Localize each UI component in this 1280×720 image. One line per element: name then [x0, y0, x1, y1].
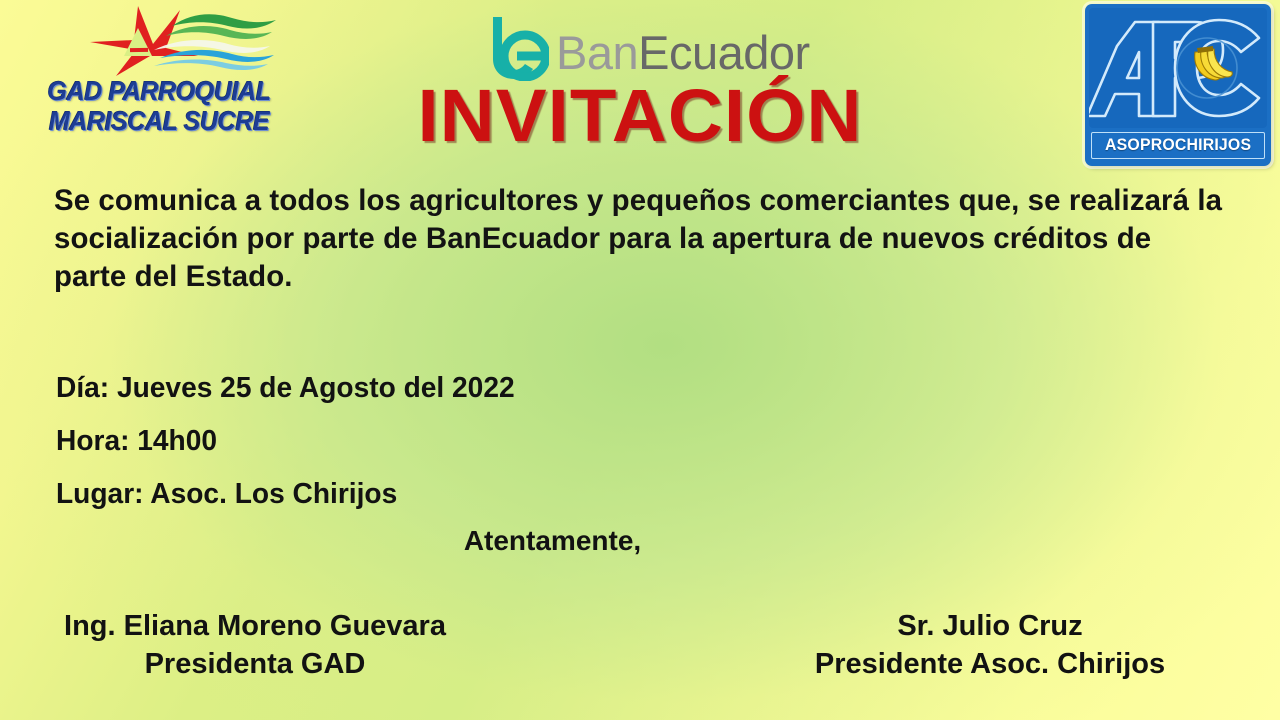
- star-swoosh-emblem: [80, 4, 280, 78]
- signature-block: Ing. Eliana Moreno Guevara Presidenta GA…: [0, 607, 1280, 683]
- event-time: Hora: 14h00: [56, 415, 515, 468]
- banecuador-word-ban: Ban: [556, 26, 638, 79]
- banecuador-wordmark: BanEcuador: [556, 29, 810, 76]
- banecuador-be-icon: [487, 15, 549, 81]
- signature-left: Ing. Eliana Moreno Guevara Presidenta GA…: [0, 607, 640, 683]
- body-paragraph: Se comunica a todos los agricultores y p…: [54, 182, 1230, 296]
- signature-left-name: Ing. Eliana Moreno Guevara: [0, 607, 510, 645]
- signature-right-name: Sr. Julio Cruz: [700, 607, 1280, 645]
- closing-salutation: Atentamente,: [0, 524, 1105, 558]
- banecuador-word-ecuador: Ecuador: [638, 26, 810, 79]
- event-details: Día: Jueves 25 de Agosto del 2022 Hora: …: [56, 362, 515, 521]
- signature-right: Sr. Julio Cruz Presidente Asoc. Chirijos: [640, 607, 1280, 683]
- event-place: Lugar: Asoc. Los Chirijos: [56, 468, 515, 521]
- event-day: Día: Jueves 25 de Agosto del 2022: [56, 362, 515, 415]
- signature-left-role: Presidenta GAD: [0, 645, 510, 683]
- signature-right-role: Presidente Asoc. Chirijos: [700, 645, 1280, 683]
- invitation-poster: GAD PARROQUIAL MARISCAL SUCRE BanEcuador: [0, 0, 1280, 720]
- page-title: INVITACIÓN: [0, 79, 1280, 153]
